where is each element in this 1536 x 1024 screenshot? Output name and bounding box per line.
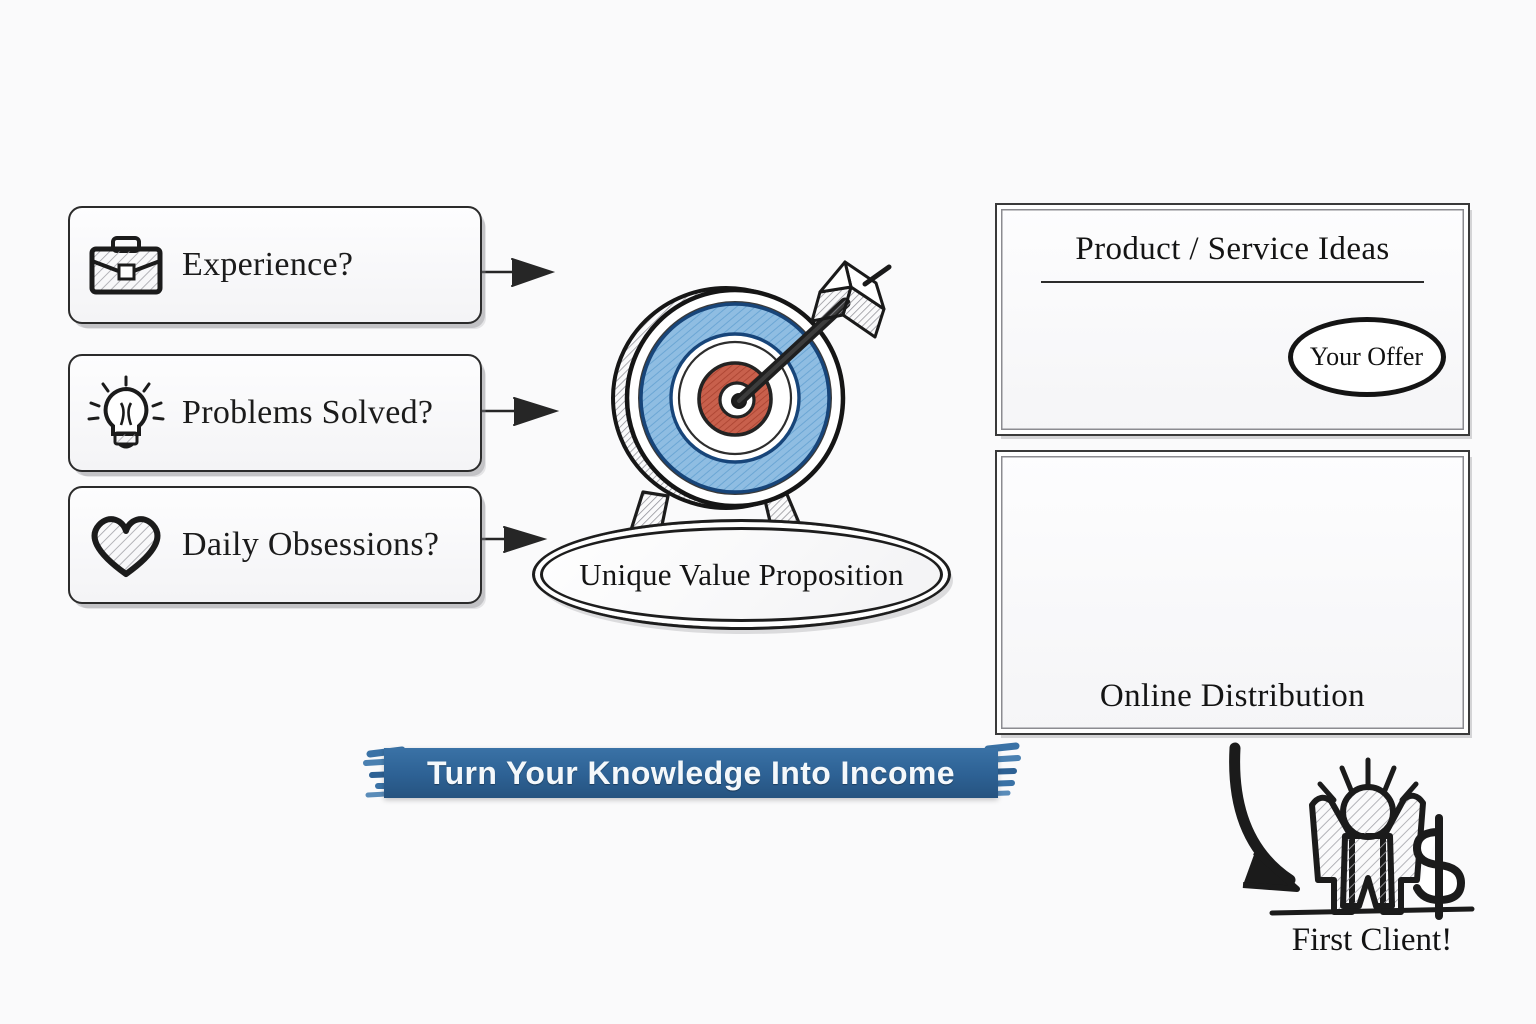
tagline-banner: Turn Your Knowledge Into Income <box>366 742 1016 804</box>
panel-products-divider <box>1041 281 1424 283</box>
panel-distribution-title: Online Distribution <box>997 678 1468 715</box>
briefcase-icon <box>70 208 182 322</box>
your-offer-label: Your Offer <box>1310 342 1423 372</box>
criteria-box-obsessions[interactable]: Daily Obsessions? <box>68 486 482 604</box>
heart-icon <box>70 488 182 602</box>
criteria-label-obsessions: Daily Obsessions? <box>182 526 439 564</box>
curved-down-arrow-icon <box>1235 748 1297 889</box>
tagline-banner-text: Turn Your Knowledge Into Income <box>427 755 955 792</box>
criteria-label-problems: Problems Solved? <box>182 394 433 432</box>
first-client-label: First Client! <box>1252 922 1492 959</box>
tagline-banner-bar: Turn Your Knowledge Into Income <box>384 748 998 798</box>
lightbulb-icon <box>70 356 182 470</box>
target-with-arrow-icon <box>613 262 889 530</box>
panel-product-service-ideas[interactable]: Product / Service Ideas Your Offer <box>995 203 1470 436</box>
panel-online-distribution[interactable]: Online Distribution <box>995 450 1470 735</box>
criteria-box-problems[interactable]: Problems Solved? <box>68 354 482 472</box>
criteria-box-experience[interactable]: Experience? <box>68 206 482 324</box>
panel-products-icon-row: Your Offer <box>1015 297 1450 417</box>
dollar-sign-icon <box>1417 818 1461 916</box>
diagram-canvas: Experience? Problems Solved? Daily <box>0 0 1536 1024</box>
panel-products-title: Product / Service Ideas <box>997 231 1468 268</box>
uvp-label: Unique Value Proposition <box>579 557 904 593</box>
your-offer-bubble[interactable]: Your Offer <box>1288 317 1446 397</box>
criteria-label-experience: Experience? <box>182 246 353 284</box>
unique-value-proposition-node[interactable]: Unique Value Proposition <box>532 519 951 630</box>
